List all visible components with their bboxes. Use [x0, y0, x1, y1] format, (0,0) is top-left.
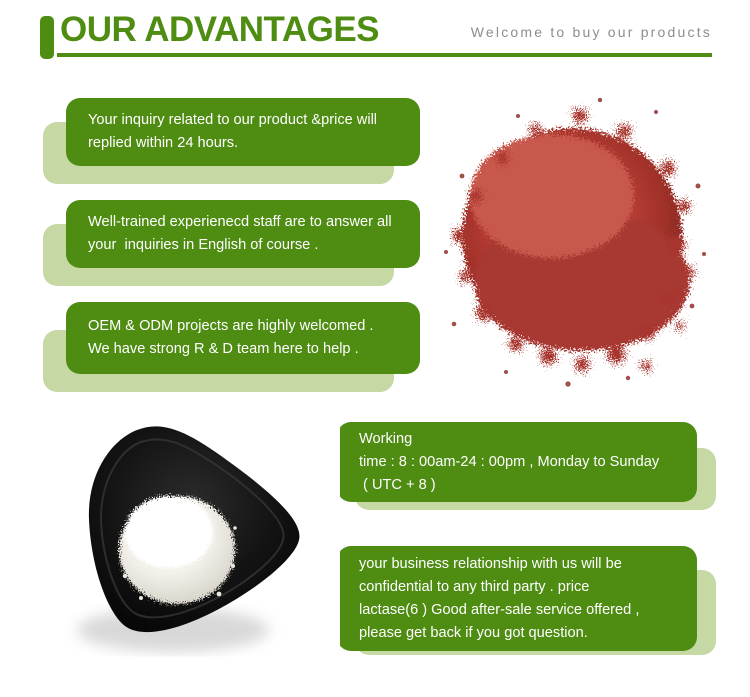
page-header: OUR ADVANTAGES Welcome to buy our produc…	[0, 0, 750, 72]
card-line: replied within 24 hours.	[88, 132, 420, 155]
card-body: Your inquiry related to our product &pri…	[66, 98, 420, 166]
card-line: time : 8 : 00am-24 : 00pm , Monday to Su…	[359, 451, 697, 474]
card-line: please get back if you got question.	[359, 622, 697, 645]
white-powder-bowl-illustration	[45, 408, 340, 658]
card-line: ( UTC + 8 )	[359, 474, 697, 497]
card-line: Your inquiry related to our product &pri…	[88, 109, 420, 132]
card-line: We have strong R & D team here to help .	[88, 338, 420, 361]
card-line: Working	[359, 428, 697, 451]
card-line: your inquiries in English of course .	[88, 234, 420, 257]
header-tagline: Welcome to buy our products	[471, 24, 712, 40]
card-line: lactase(6 ) Good after-sale service offe…	[359, 599, 697, 622]
card-body: OEM & ODM projects are highly welcomed .…	[66, 302, 420, 374]
red-powder-photo	[432, 76, 720, 406]
advantages-banner: OUR ADVANTAGES Welcome to buy our produc…	[0, 0, 750, 697]
page-title: OUR ADVANTAGES	[60, 8, 379, 52]
title-accent-bar	[40, 16, 54, 59]
card-line: your business relationship with us will …	[359, 553, 697, 576]
card-line: OEM & ODM projects are highly welcomed .	[88, 315, 420, 338]
white-powder-photo	[45, 408, 340, 658]
card-line: Well-trained experienecd staff are to an…	[88, 211, 420, 234]
card-line: confidential to any third party . price	[359, 576, 697, 599]
red-powder-illustration	[432, 76, 720, 406]
card-body: Well-trained experienecd staff are to an…	[66, 200, 420, 268]
card-body: your business relationship with us will …	[337, 546, 697, 651]
title-underline-rule	[57, 53, 712, 57]
card-body: Working time : 8 : 00am-24 : 00pm , Mond…	[337, 422, 697, 502]
